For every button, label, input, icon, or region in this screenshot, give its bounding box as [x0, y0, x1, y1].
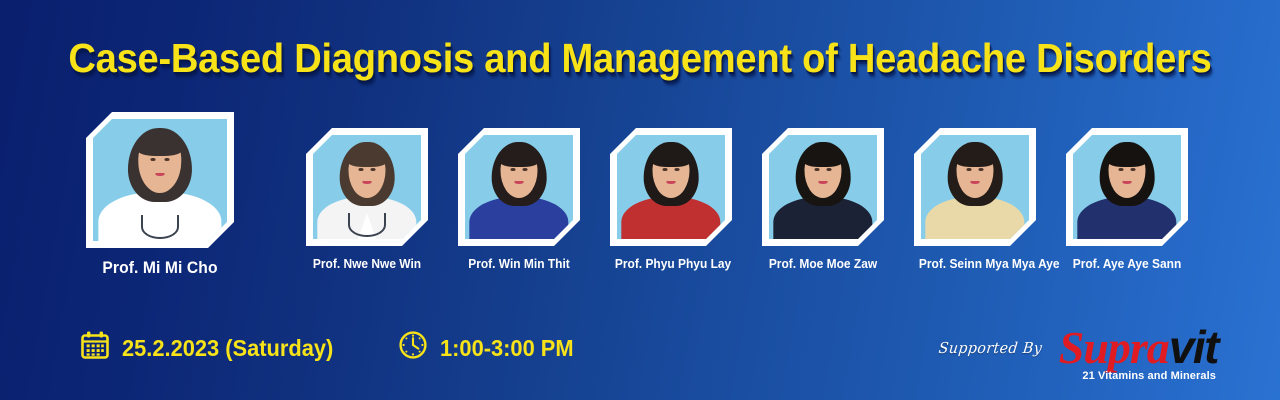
clock-icon — [398, 330, 428, 366]
speaker-card: Prof. Nwe Nwe Win — [306, 128, 428, 271]
speaker-name: Prof. Moe Moe Zaw — [767, 256, 879, 271]
speaker-portrait — [1073, 135, 1181, 239]
speaker-name: Prof. Nwe Nwe Win — [311, 256, 423, 271]
event-time-text: 1:00-3:00 PM — [440, 335, 574, 362]
speaker-name: Prof. Seinn Mya Mya Aye — [919, 256, 1031, 271]
speaker-portrait — [465, 135, 573, 239]
speakers-row: Prof. Mi Mi ChoProf. Nwe Nwe WinProf. Wi… — [0, 108, 1280, 298]
speaker-card: Prof. Win Min Thit — [458, 128, 580, 271]
speaker-portrait — [617, 135, 725, 239]
speaker-portrait — [769, 135, 877, 239]
event-banner: Case-Based Diagnosis and Management of H… — [0, 0, 1280, 400]
calendar-icon — [80, 330, 110, 366]
event-date-text: 25.2.2023 (Saturday) — [122, 335, 333, 362]
speaker-name: Prof. Mi Mi Cho — [92, 258, 228, 278]
supported-by-label: Supported By — [938, 339, 1043, 357]
logo-vit-text: vit — [1169, 321, 1218, 373]
speaker-photo-frame — [86, 112, 234, 248]
speaker-photo-frame — [458, 128, 580, 246]
speaker-name: Prof. Phyu Phyu Lay — [615, 256, 727, 271]
speaker-portrait — [921, 135, 1029, 239]
speaker-photo-frame — [762, 128, 884, 246]
logo-tagline: 21 Vitamins and Minerals — [1082, 371, 1216, 382]
speaker-card: Prof. Aye Aye Sann — [1066, 128, 1188, 271]
speaker-portrait — [93, 119, 227, 241]
speaker-photo-frame — [914, 128, 1036, 246]
sponsor-block: Supported By Supravit 21 Vitamins and Mi… — [936, 324, 1218, 371]
speaker-photo-frame — [610, 128, 732, 246]
supravit-logo: Supravit 21 Vitamins and Minerals — [1059, 324, 1218, 371]
speaker-card: Prof. Seinn Mya Mya Aye — [914, 128, 1036, 271]
speaker-card: Prof. Moe Moe Zaw — [762, 128, 884, 271]
event-date: 25.2.2023 (Saturday) — [80, 330, 344, 366]
speaker-portrait — [313, 135, 421, 239]
logo-supra-text: Supra — [1059, 322, 1169, 373]
speaker-photo-frame — [1066, 128, 1188, 246]
speaker-name: Prof. Aye Aye Sann — [1071, 256, 1183, 271]
event-time: 1:00-3:00 PM — [398, 330, 581, 366]
speaker-card: Prof. Mi Mi Cho — [86, 112, 234, 278]
page-title: Case-Based Diagnosis and Management of H… — [45, 34, 1235, 82]
speaker-card: Prof. Phyu Phyu Lay — [610, 128, 732, 271]
logo-wordmark: Supravit — [1059, 322, 1218, 373]
speaker-photo-frame — [306, 128, 428, 246]
speaker-name: Prof. Win Min Thit — [463, 256, 575, 271]
banner-footer: 25.2.2023 (Saturday) — [0, 318, 1280, 400]
